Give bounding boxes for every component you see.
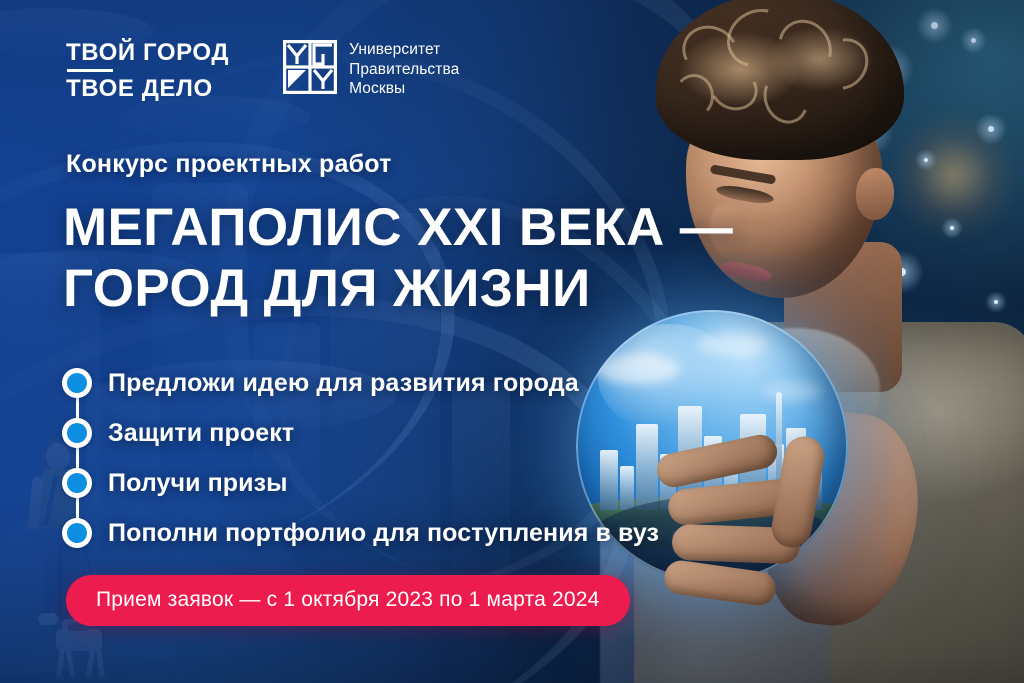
university-line3: Москвы	[349, 80, 405, 97]
program-logo-line1: ТВОЙ ГОРОД	[66, 40, 229, 65]
benefits-list: Предложи идею для развития города Защити…	[62, 358, 659, 558]
list-item-label: Получи призы	[108, 469, 288, 498]
list-item-label: Защити проект	[108, 419, 294, 448]
university-line1: Университет	[349, 41, 440, 58]
eyebrow-text: Конкурс проектных работ	[66, 150, 392, 179]
bullet-marker-icon	[62, 468, 92, 498]
list-item: Пополни портфолио для поступления в вуз	[62, 508, 659, 558]
banner-content: ТВОЙ ГОРОД ТВОЕ ДЕЛО	[0, 0, 1024, 683]
headline-line2: ГОРОД ДЛЯ ЖИЗНИ	[63, 259, 733, 320]
upm-monogram-icon	[283, 40, 337, 94]
list-item: Получи призы	[62, 458, 659, 508]
page-title: МЕГАПОЛИС XXI ВЕКА — ГОРОД ДЛЯ ЖИЗНИ	[63, 198, 733, 320]
program-logo: ТВОЙ ГОРОД ТВОЕ ДЕЛО	[66, 40, 229, 102]
program-logo-rule	[67, 69, 113, 72]
program-logo-line2: ТВОЕ ДЕЛО	[66, 76, 229, 101]
university-line2: Правительства	[349, 61, 459, 78]
university-logo: Университет Правительства Москвы	[283, 40, 459, 99]
header-brands: ТВОЙ ГОРОД ТВОЕ ДЕЛО	[66, 40, 459, 102]
bullet-marker-icon	[62, 368, 92, 398]
promo-banner: ТВОЙ ГОРОД ТВОЕ ДЕЛО	[0, 0, 1024, 683]
headline-line1: МЕГАПОЛИС XXI ВЕКА —	[63, 198, 733, 259]
bullet-marker-icon	[62, 418, 92, 448]
list-item-label: Пополни портфолио для поступления в вуз	[108, 519, 659, 548]
list-item: Защити проект	[62, 408, 659, 458]
list-item: Предложи идею для развития города	[62, 358, 659, 408]
bullet-marker-icon	[62, 518, 92, 548]
application-period-badge: Прием заявок — с 1 октября 2023 по 1 мар…	[66, 575, 630, 626]
university-logo-name: Университет Правительства Москвы	[349, 40, 459, 99]
list-item-label: Предложи идею для развития города	[108, 369, 579, 398]
